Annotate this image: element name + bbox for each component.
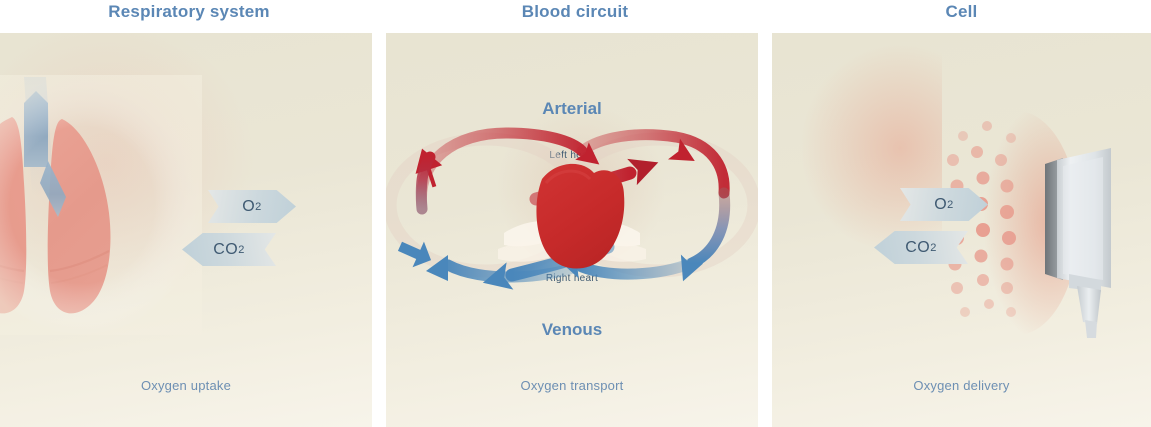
header-respiratory-system: Respiratory system	[0, 2, 378, 22]
header-cell: Cell	[772, 2, 1151, 22]
lungs-icon	[0, 75, 202, 335]
panel-blood-circuit: Arterial Left heart Right heart Venous	[386, 33, 758, 427]
gas-label-o2: O2	[208, 190, 296, 223]
panel-cell: O2 CO2 Oxygen delivery	[772, 33, 1151, 427]
panel-headers: Respiratory system Blood circuit Cell	[0, 0, 1151, 33]
circulation-diagram	[386, 33, 758, 427]
caption-oxygen-uptake: Oxygen uptake	[0, 378, 372, 393]
header-blood-circuit: Blood circuit	[385, 2, 765, 22]
tissue-sensor-icon	[897, 108, 1151, 338]
panel-respiratory-system: O2 CO2 Oxygen uptake	[0, 33, 372, 427]
caption-oxygen-delivery: Oxygen delivery	[772, 378, 1151, 393]
caption-oxygen-transport: Oxygen transport	[386, 378, 758, 393]
